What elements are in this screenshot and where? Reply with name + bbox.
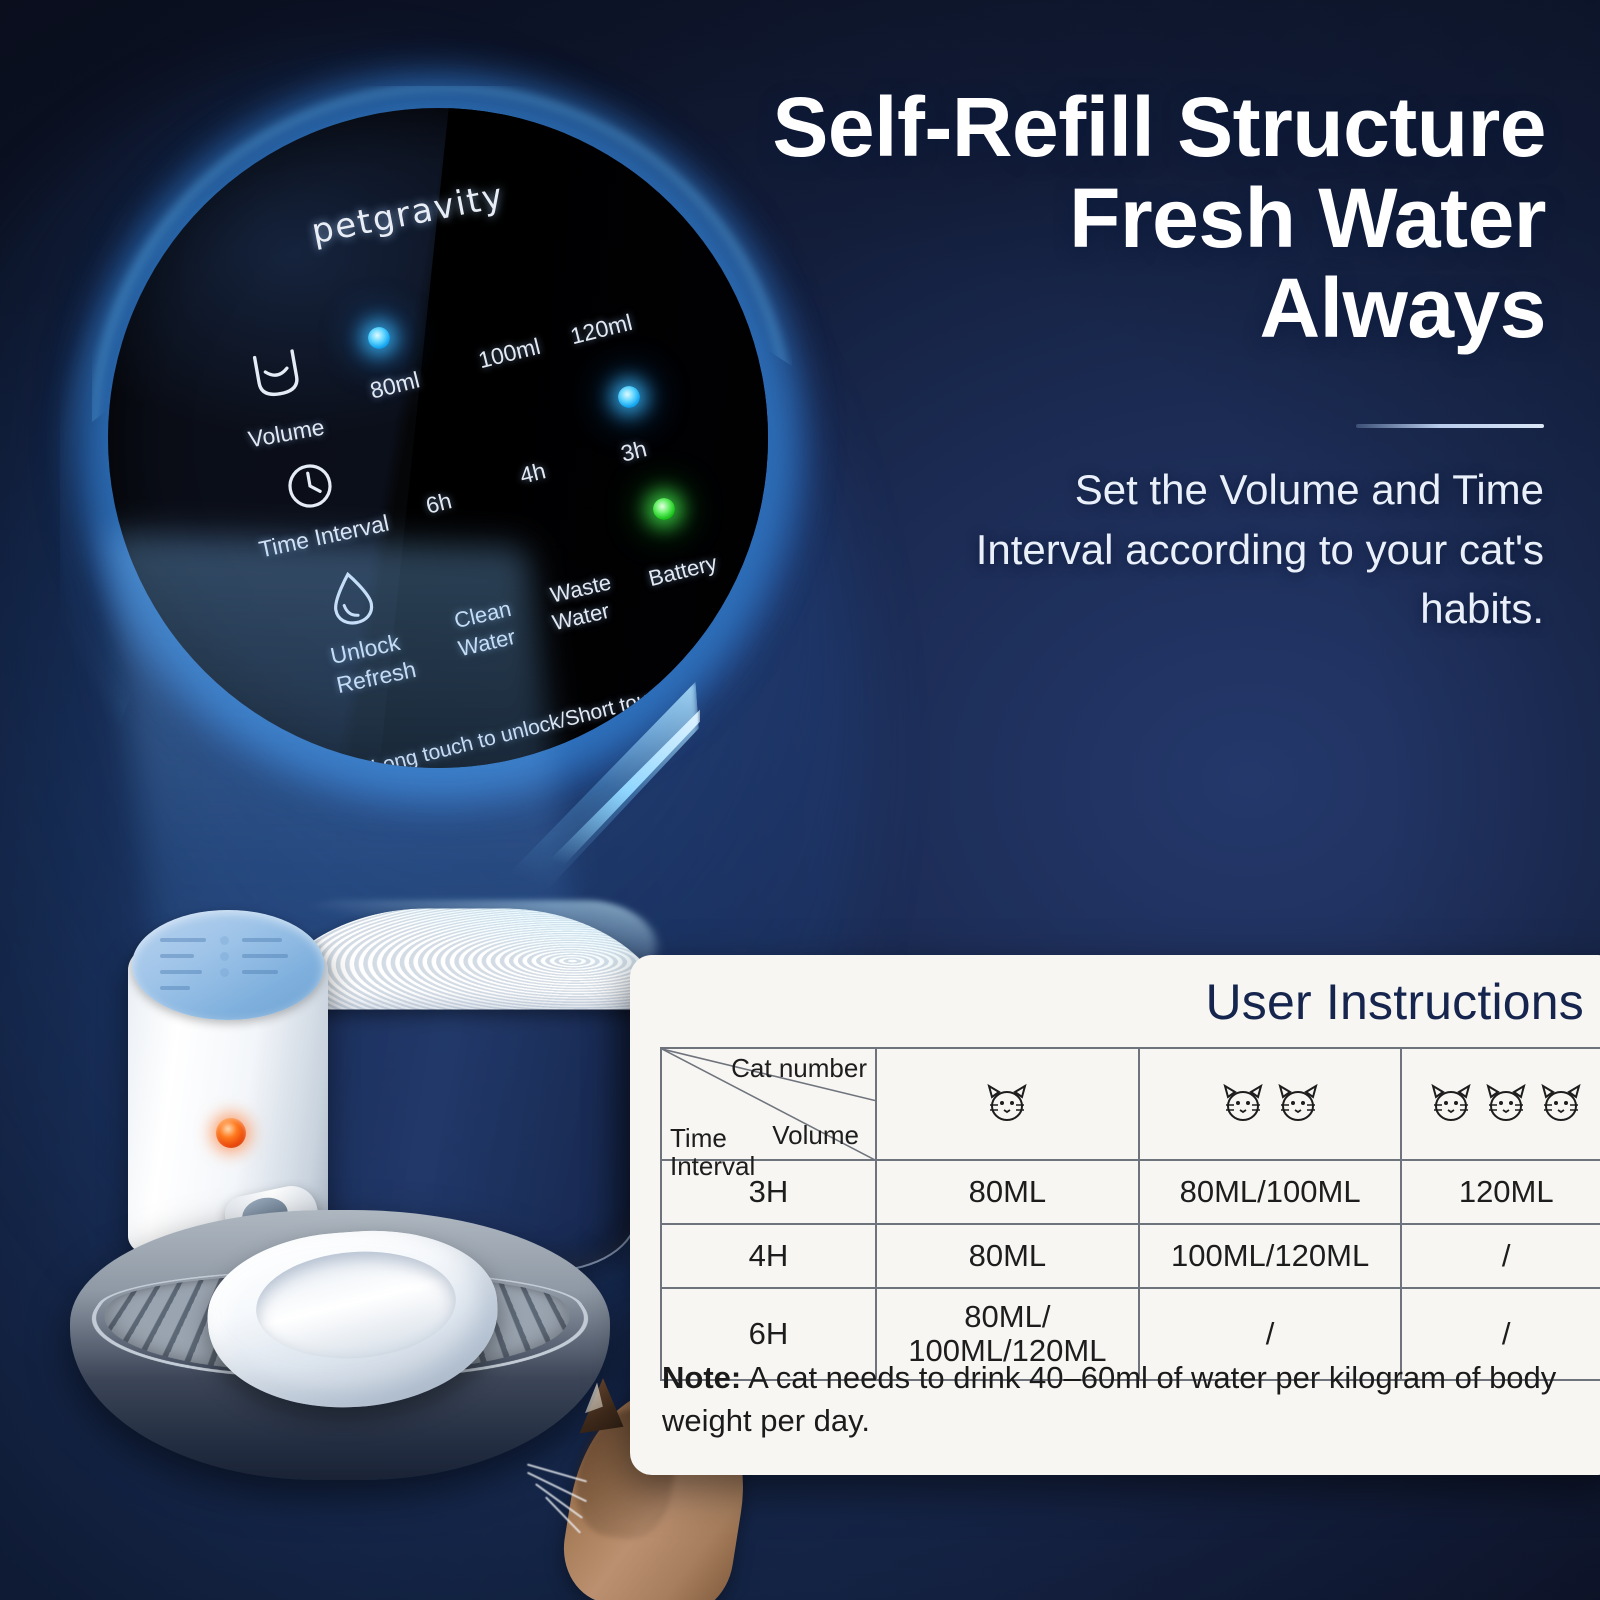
cat-icon-group-3	[1406, 1083, 1600, 1125]
row-label-4h: 4H	[661, 1224, 876, 1288]
led-volume-80ml[interactable]	[368, 327, 390, 349]
header-time-line2: Interval	[670, 1153, 755, 1181]
table-note: Note: A cat needs to drink 40–60ml of wa…	[662, 1357, 1594, 1443]
cat-face-icon	[1428, 1083, 1474, 1125]
column-header-1-cat	[876, 1048, 1139, 1160]
header-time-line1: Time	[670, 1125, 727, 1153]
cat-face-icon	[1483, 1083, 1529, 1125]
cell-3h-3cat: 120ML	[1401, 1160, 1600, 1224]
cell-3h-1cat: 80ML	[876, 1160, 1139, 1224]
cat-icon-group-2	[1144, 1083, 1397, 1125]
card-title: User Instructions	[1205, 973, 1584, 1031]
headline-line-1: Self-Refill Structure	[666, 82, 1546, 173]
promo-stage: petgravity Volume 80ml 100ml 120ml Time …	[0, 0, 1600, 1600]
bowl-icon	[248, 348, 306, 402]
note-text: A cat needs to drink 40–60ml of water pe…	[662, 1360, 1556, 1438]
table-header-row: Cat number Volume Time Interval	[661, 1048, 1600, 1160]
table-row: 3H 80ML 80ML/100ML 120ML	[661, 1160, 1600, 1224]
cat-icon-group-1	[881, 1083, 1134, 1125]
cell-4h-1cat: 80ML	[876, 1224, 1139, 1288]
led-time-3h[interactable]	[618, 386, 640, 408]
header-cat-number: Cat number	[731, 1053, 867, 1084]
cat-face-icon	[984, 1083, 1030, 1125]
note-label: Note:	[662, 1360, 741, 1395]
title-divider	[1356, 424, 1544, 428]
cell-4h-3cat: /	[1401, 1224, 1600, 1288]
subtitle-text: Set the Volume and Time Interval accordi…	[934, 460, 1544, 639]
cell-4h-2cat: 100ML/120ML	[1139, 1224, 1402, 1288]
headline-line-3: Always	[666, 263, 1546, 354]
header-volume: Volume	[772, 1120, 859, 1151]
product-power-indicator-led[interactable]	[216, 1118, 246, 1148]
column-header-2-cats	[1139, 1048, 1402, 1160]
instructions-table: Cat number Volume Time Interval	[660, 1047, 1600, 1381]
led-battery[interactable]	[653, 498, 675, 520]
cell-3h-2cat: 80ML/100ML	[1139, 1160, 1402, 1224]
column-header-3-cats	[1401, 1048, 1600, 1160]
cell-6h-1cat-line1: 80ML/	[964, 1299, 1050, 1334]
cat-face-icon	[1275, 1083, 1321, 1125]
cat-face-icon	[1220, 1083, 1266, 1125]
table-row: 4H 80ML 100ML/120ML /	[661, 1224, 1600, 1288]
table-corner-header: Cat number Volume Time Interval	[661, 1048, 876, 1160]
page-title: Self-Refill Structure Fresh Water Always	[666, 82, 1546, 354]
product-panel-markings	[146, 932, 310, 1006]
clock-icon	[284, 460, 336, 512]
cat-face-icon	[1538, 1083, 1584, 1125]
user-instructions-card: User Instructions Cat number Volume Time…	[630, 955, 1600, 1475]
headline-line-2: Fresh Water	[666, 173, 1546, 264]
